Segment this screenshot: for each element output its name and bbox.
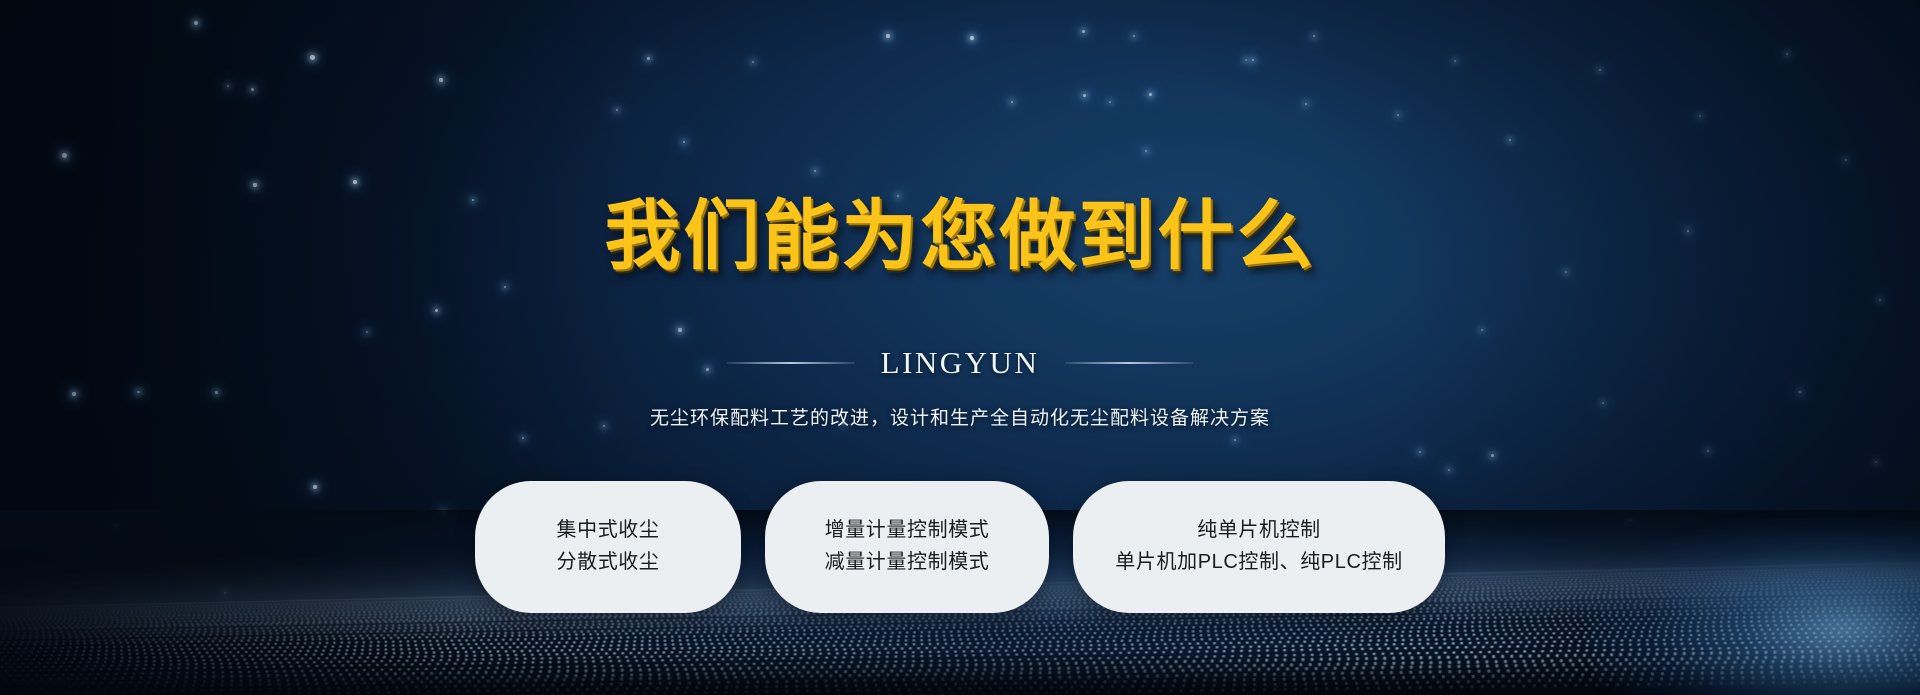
brand-name: LINGYUN (881, 345, 1040, 381)
feature-pill-dust-collection[interactable]: 集中式收尘 分散式收尘 (475, 481, 741, 613)
pill-line: 单片机加PLC控制、纯PLC控制 (1115, 551, 1402, 574)
feature-pill-group: 集中式收尘 分散式收尘 增量计量控制模式 减量计量控制模式 纯单片机控制 单片机… (475, 481, 1445, 613)
divider-left (727, 362, 855, 364)
pill-line: 集中式收尘 (557, 519, 660, 542)
pill-line: 纯单片机控制 (1197, 519, 1321, 542)
subtitle-row: LINGYUN (727, 345, 1194, 381)
feature-pill-controller-type[interactable]: 纯单片机控制 单片机加PLC控制、纯PLC控制 (1073, 481, 1445, 613)
page-title: 我们能为您做到什么 (605, 198, 1316, 274)
page-description: 无尘环保配料工艺的改进，设计和生产全自动化无尘配料设备解决方案 (650, 403, 1270, 430)
divider-right (1065, 362, 1193, 364)
pill-line: 减量计量控制模式 (825, 551, 990, 574)
pill-line: 增量计量控制模式 (825, 519, 990, 542)
hero-banner: 我们能为您做到什么 LINGYUN 无尘环保配料工艺的改进，设计和生产全自动化无… (0, 0, 1920, 695)
banner-content: 我们能为您做到什么 LINGYUN 无尘环保配料工艺的改进，设计和生产全自动化无… (0, 0, 1920, 695)
pill-line: 分散式收尘 (557, 551, 660, 574)
feature-pill-metering-control-mode[interactable]: 增量计量控制模式 减量计量控制模式 (765, 481, 1049, 613)
